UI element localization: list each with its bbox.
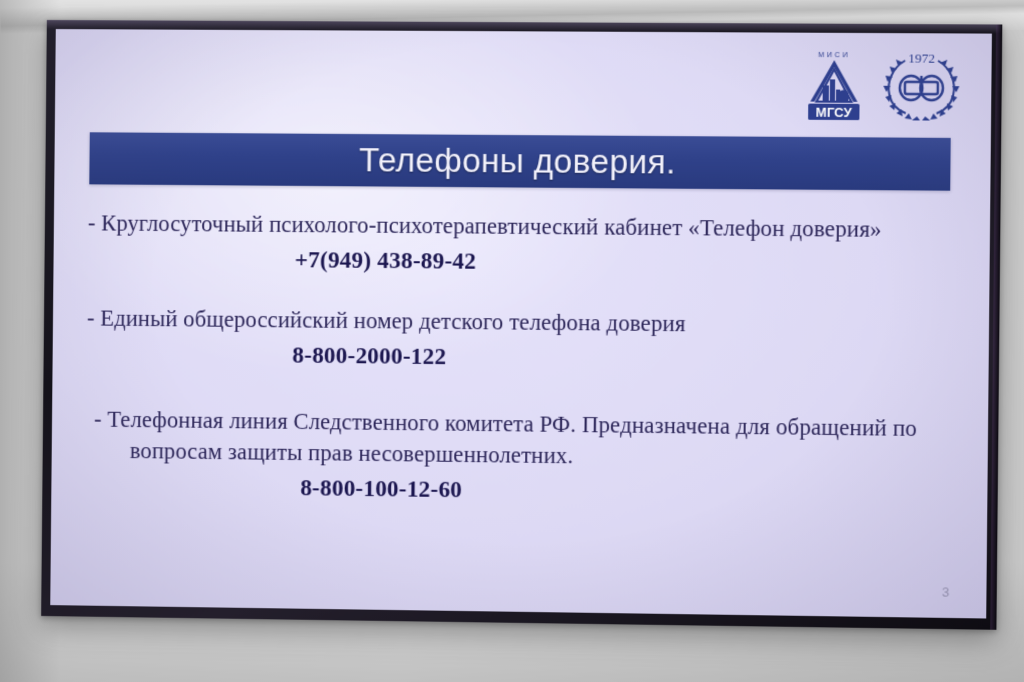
helpline-block-3: - Телефонная линия Следственного комитет… xyxy=(85,403,961,509)
slide-page-number: 3 xyxy=(942,584,950,599)
helpline-phone-3: 8-800-100-12-60 xyxy=(85,473,960,510)
screen-frame: МИСИ МГСУ xyxy=(41,20,1002,630)
logo-group: МИСИ МГСУ xyxy=(804,47,965,127)
helpline-phone-1: +7(949) 438-89-42 xyxy=(87,245,963,279)
slide-title-banner: Телефоны доверия. xyxy=(89,132,950,190)
slide-body: - Круглосуточный психолого-психотерапевт… xyxy=(85,207,963,513)
svg-text:МИСИ: МИСИ xyxy=(818,52,850,59)
slide-canvas: МИСИ МГСУ xyxy=(50,29,992,618)
projection-screen: МИСИ МГСУ xyxy=(41,20,1002,630)
helpline-description-3: - Телефонная линия Следственного комитет… xyxy=(86,403,962,476)
helpline-block-2: - Единый общероссийский номер детского т… xyxy=(87,302,963,375)
msgu-logo: МИСИ МГСУ xyxy=(804,47,864,126)
helpline-phone-2: 8-800-2000-122 xyxy=(87,340,962,375)
svg-text:1972: 1972 xyxy=(908,50,935,65)
slide-title: Телефоны доверия. xyxy=(359,141,676,182)
helpline-description-1: - Круглосуточный психолого-психотерапевт… xyxy=(88,207,964,245)
anniversary-1972-logo: 1972 xyxy=(878,47,965,121)
helpline-block-1: - Круглосуточный психолого-психотерапевт… xyxy=(87,207,963,279)
svg-text:МГСУ: МГСУ xyxy=(816,105,853,120)
